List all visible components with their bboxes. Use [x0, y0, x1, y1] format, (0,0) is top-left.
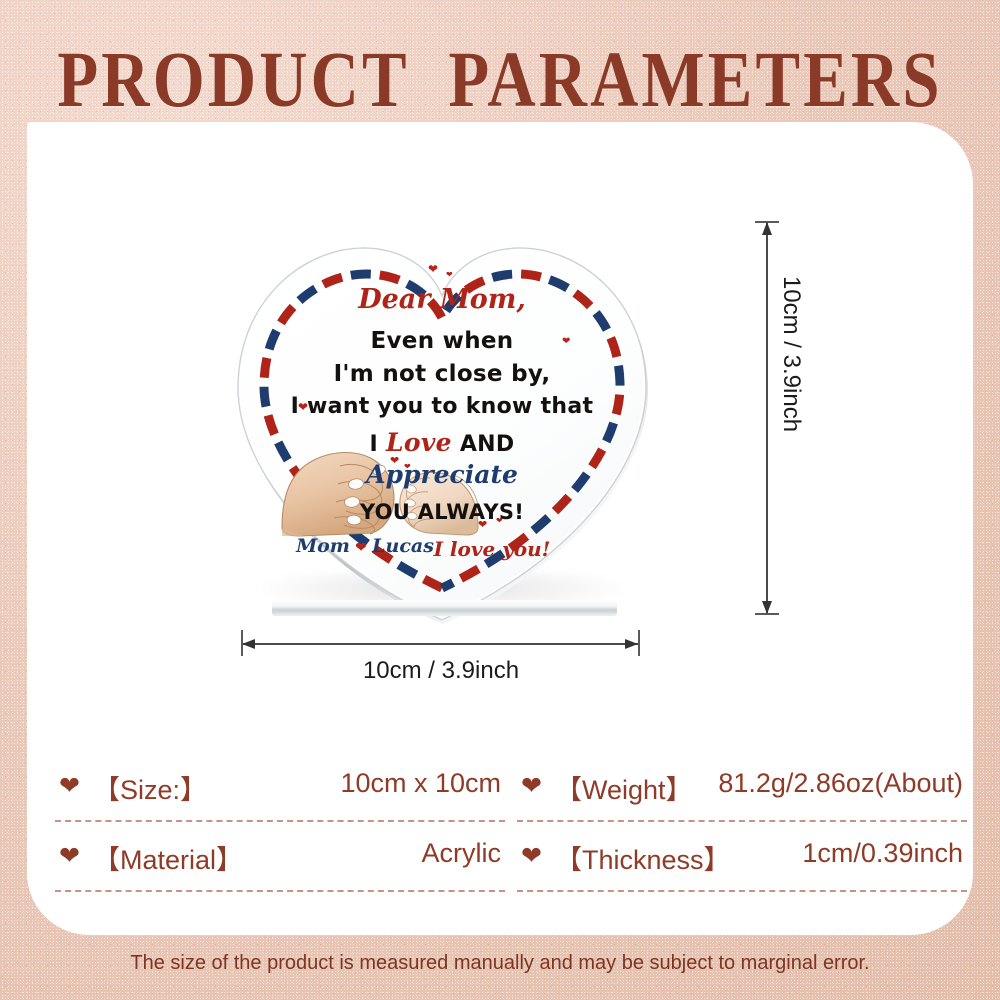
spec-row-material: ❤ 【Material】 Acrylic: [55, 830, 505, 892]
line4-love-word: Love: [386, 428, 452, 457]
page-title: PRODUCT PARAMETERS: [0, 34, 1000, 126]
plaque-base: [272, 600, 617, 616]
inscription-line-3: I want you to know that: [232, 394, 652, 419]
plaque-inscription: Dear Mom, Even when I'm not close by, I …: [232, 232, 652, 632]
inscription-line-4: I Love AND: [232, 428, 652, 457]
heart-icon: ❤: [496, 516, 503, 525]
heart-icon: ❤: [446, 270, 453, 279]
inscription-line-1: Even when: [232, 328, 652, 354]
spec-column-right: ❤ 【Weight】 81.2g/2.86oz(About) ❤ 【Thickn…: [517, 760, 967, 905]
inscription-greeting: Dear Mom,: [232, 284, 652, 315]
heart-icon: ❤: [390, 454, 399, 467]
heart-icon: ❤: [521, 844, 542, 869]
arrow-up-icon: [760, 222, 774, 236]
inscription-you-always: YOU ALWAYS!: [232, 500, 652, 524]
spec-value-material: Acrylic: [422, 838, 502, 869]
arrow-right-icon: [625, 637, 639, 651]
arrow-left-icon: [242, 637, 256, 651]
spec-divider: [517, 820, 967, 822]
heart-icon: ❤: [521, 774, 542, 799]
width-dimension-label: 10cm / 3.9inch: [27, 657, 855, 685]
heart-icon: ❤: [562, 336, 570, 347]
arrow-down-icon: [760, 601, 774, 615]
spec-key-thickness: 【Thickness】: [555, 838, 731, 877]
spec-row-thickness: ❤ 【Thickness】 1cm/0.39inch: [517, 830, 967, 892]
heart-icon: ❤: [404, 462, 411, 471]
line4-pre: I: [370, 432, 386, 457]
product-preview-stage: Dear Mom, Even when I'm not close by, I …: [27, 122, 973, 682]
spec-divider: [517, 890, 967, 892]
spec-value-size: 10cm x 10cm: [340, 768, 501, 799]
heart-icon: ❤: [59, 774, 80, 799]
spec-value-thickness: 1cm/0.39inch: [802, 838, 963, 869]
spec-column-left: ❤ 【Size:】 10cm x 10cm ❤ 【Material】 Acryl…: [55, 760, 505, 905]
spec-value-weight: 81.2g/2.86oz(About): [718, 768, 963, 799]
acrylic-heart-plaque: Dear Mom, Even when I'm not close by, I …: [232, 232, 652, 632]
height-dimension-label: 10cm / 3.9inch: [777, 276, 805, 432]
heart-icon: ❤: [478, 518, 487, 531]
spec-key-size: 【Size:】: [93, 768, 207, 807]
line4-post: AND: [452, 432, 515, 457]
heart-icon: ❤: [59, 844, 80, 869]
heart-icon: ❤: [428, 262, 438, 276]
inscription-closing: I love you!: [342, 537, 642, 561]
heart-icon: ❤: [298, 400, 308, 414]
inscription-appreciate: Appreciate: [232, 460, 652, 489]
spec-key-material: 【Material】: [93, 838, 243, 877]
spec-divider: [55, 890, 505, 892]
inscription-line-2: I'm not close by,: [232, 361, 652, 387]
spec-row-size: ❤ 【Size:】 10cm x 10cm: [55, 760, 505, 822]
spec-divider: [55, 820, 505, 822]
spec-table: ❤ 【Size:】 10cm x 10cm ❤ 【Material】 Acryl…: [27, 760, 973, 905]
spec-row-weight: ❤ 【Weight】 81.2g/2.86oz(About): [517, 760, 967, 822]
spec-key-weight: 【Weight】: [555, 768, 693, 807]
footer-note: The size of the product is measured manu…: [0, 952, 1000, 975]
